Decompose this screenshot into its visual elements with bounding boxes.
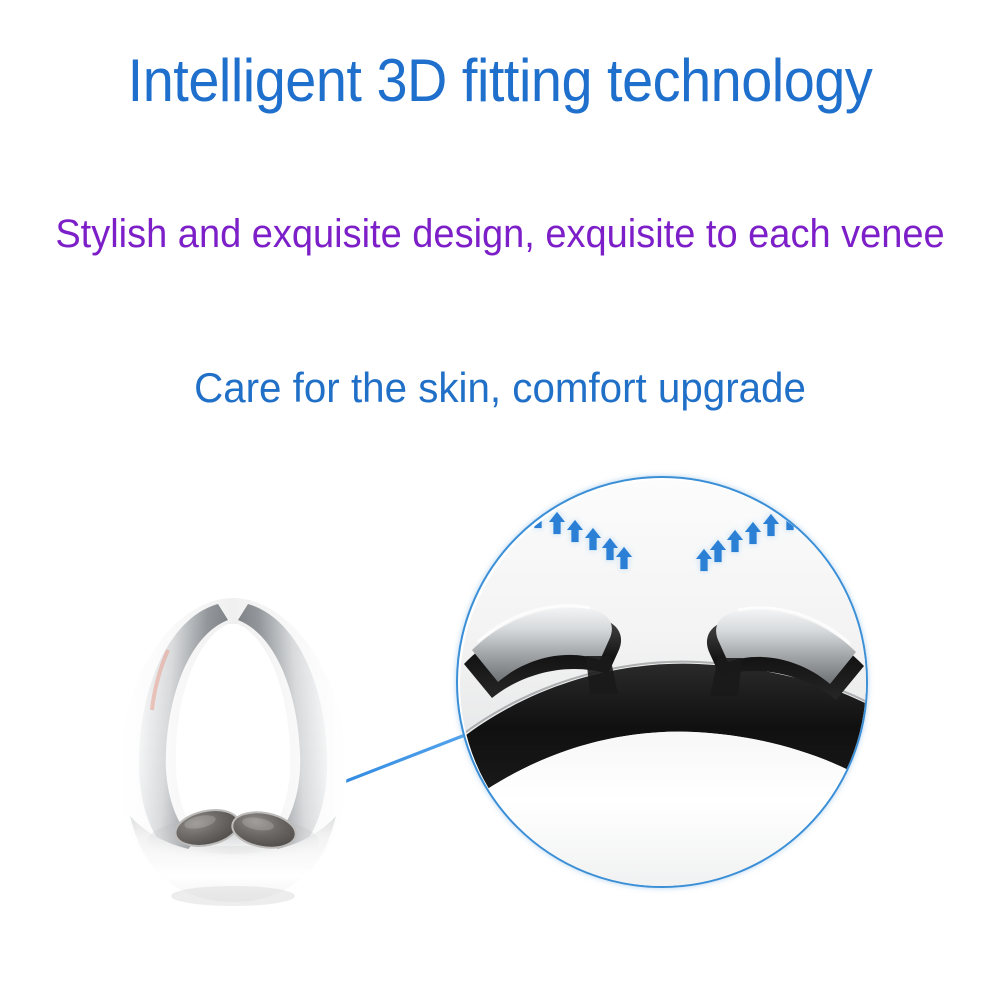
page-title: Intelligent 3D fitting technology (35, 46, 965, 115)
arrow-up-icon (491, 491, 507, 513)
tagline-text: Care for the skin, comfort upgrade (20, 364, 980, 412)
zoom-detail-circle (456, 476, 868, 888)
product-illustration-scene (0, 430, 1000, 1000)
subtitle-text: Stylish and exquisite design, exquisite … (25, 212, 975, 257)
product-ground-shadow (171, 886, 295, 906)
arrow-up-icon (802, 502, 818, 524)
promo-image-canvas: Intelligent 3D fitting technology Stylis… (0, 0, 1000, 1000)
arrow-up-icon (821, 493, 837, 515)
arrow-up-icon (510, 500, 526, 522)
neck-massager-product (108, 590, 358, 910)
